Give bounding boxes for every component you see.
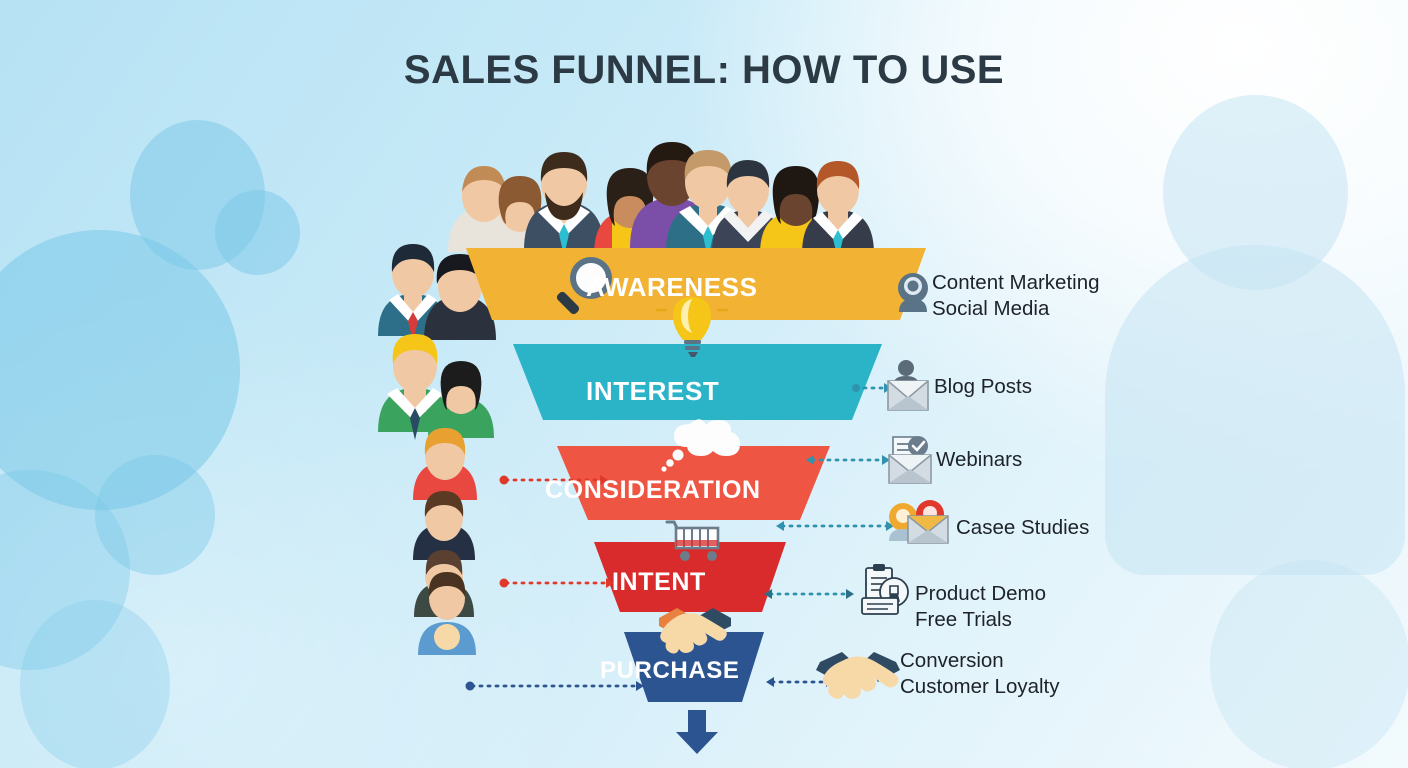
page-title: SALES FUNNEL: HOW TO USE <box>0 48 1408 93</box>
background-blob-decoration <box>20 600 170 768</box>
tactic-label-intent: Product Demo Free Trials <box>915 581 1046 633</box>
funnel-label-intent: INTENT <box>612 568 706 597</box>
tactic-label-interest: Blog Posts <box>934 374 1032 400</box>
funnel-label-interest: INTEREST <box>586 376 719 407</box>
tactic-label-awareness: Content Marketing Social Media <box>932 270 1100 322</box>
tactic-label-purchase: Conversion Customer Loyalty <box>900 648 1060 700</box>
tactic-label-case-studies: Casee Studies <box>956 515 1089 541</box>
background-person-watermark-body <box>1105 245 1405 575</box>
funnel-label-consideration: CONSIDERATION <box>545 476 761 505</box>
funnel-label-purchase: PURCHASE <box>600 657 739 685</box>
background-blob-decoration <box>1210 560 1408 768</box>
funnel-label-awareness: AWARENESS <box>586 272 758 303</box>
tactic-label-webinars: Webinars <box>936 447 1022 473</box>
background-blob-decoration <box>215 190 300 275</box>
